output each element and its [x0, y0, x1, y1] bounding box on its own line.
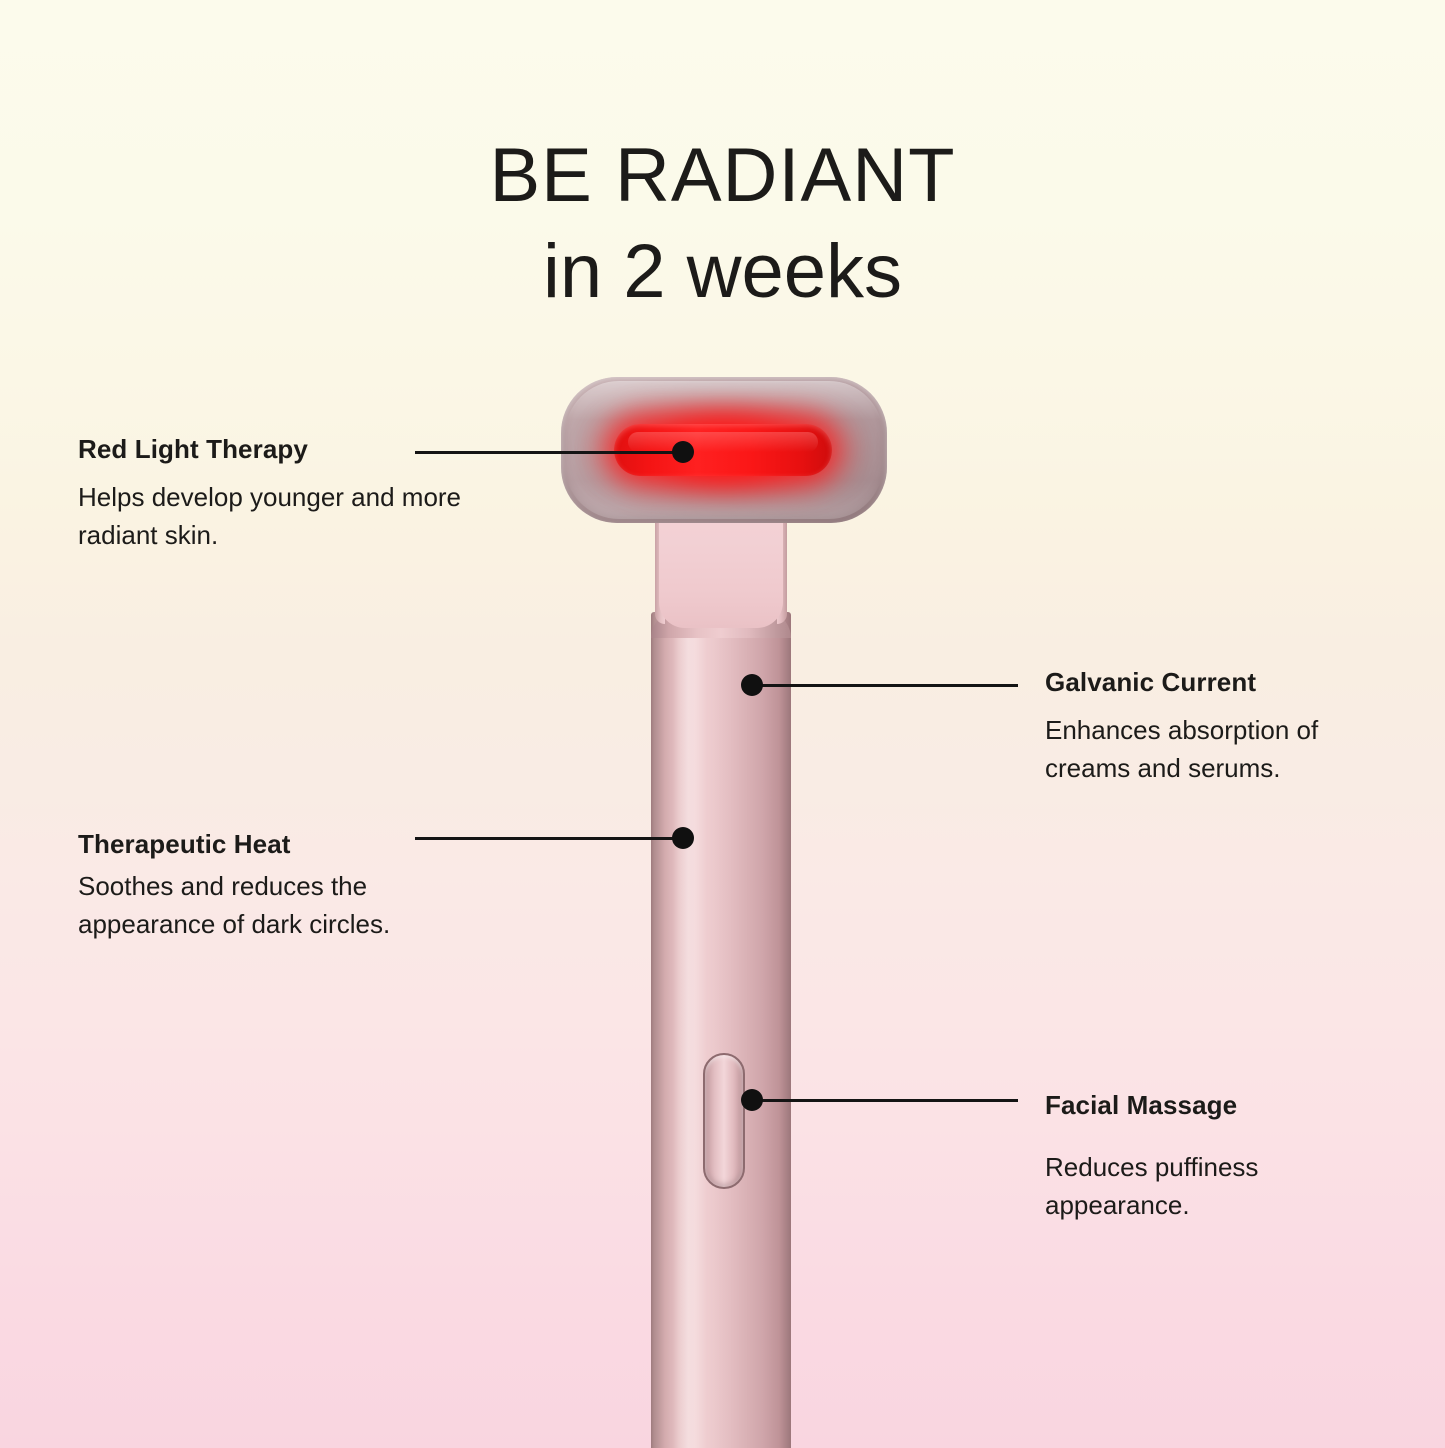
headline-line-1: BE RADIANT [0, 138, 1445, 214]
infographic-stage: BE RADIANT in 2 weeks Red Light Therapy … [0, 0, 1445, 1448]
translucent-neck [659, 500, 783, 628]
annotation-body-red-light-therapy: Helps develop younger and more radiant s… [78, 479, 478, 554]
annotation-facial-massage: Facial Massage Reduces puffiness appeara… [1045, 1090, 1405, 1224]
annotation-title-galvanic-current: Galvanic Current [1045, 667, 1405, 698]
annotation-body-galvanic-current: Enhances absorption of creams and serums… [1045, 712, 1405, 787]
power-button[interactable] [703, 1053, 745, 1189]
page-title: BE RADIANT in 2 weeks [0, 138, 1445, 310]
callout-dot-facial-massage [741, 1089, 763, 1111]
red-led-bar [614, 424, 832, 476]
annotation-title-therapeutic-heat: Therapeutic Heat [78, 829, 458, 860]
callout-dot-galvanic-current [741, 674, 763, 696]
headline-line-2: in 2 weeks [0, 234, 1445, 310]
leader-line-galvanic-current [760, 684, 1018, 687]
annotation-body-facial-massage: Reduces puffiness appearance. [1045, 1149, 1405, 1224]
leader-line-facial-massage [760, 1099, 1018, 1102]
callout-dot-therapeutic-heat [672, 827, 694, 849]
annotation-title-facial-massage: Facial Massage [1045, 1090, 1405, 1121]
red-light-glow [580, 393, 868, 507]
device-head [561, 377, 887, 523]
neck-edge-right [777, 500, 787, 624]
handle-barrel [651, 612, 791, 1448]
neck-edge-left [655, 500, 665, 624]
annotation-title-red-light-therapy: Red Light Therapy [78, 434, 478, 465]
handle-top-bevel [651, 596, 791, 638]
annotation-body-therapeutic-heat: Soothes and reduces the appearance of da… [78, 868, 458, 943]
device-head-rim [565, 381, 883, 519]
callout-dot-red-light-therapy [672, 441, 694, 463]
annotation-red-light-therapy: Red Light Therapy Helps develop younger … [78, 434, 478, 554]
red-led-highlight [628, 432, 818, 452]
annotation-galvanic-current: Galvanic Current Enhances absorption of … [1045, 667, 1405, 787]
annotation-therapeutic-heat: Therapeutic Heat Soothes and reduces the… [78, 829, 458, 943]
